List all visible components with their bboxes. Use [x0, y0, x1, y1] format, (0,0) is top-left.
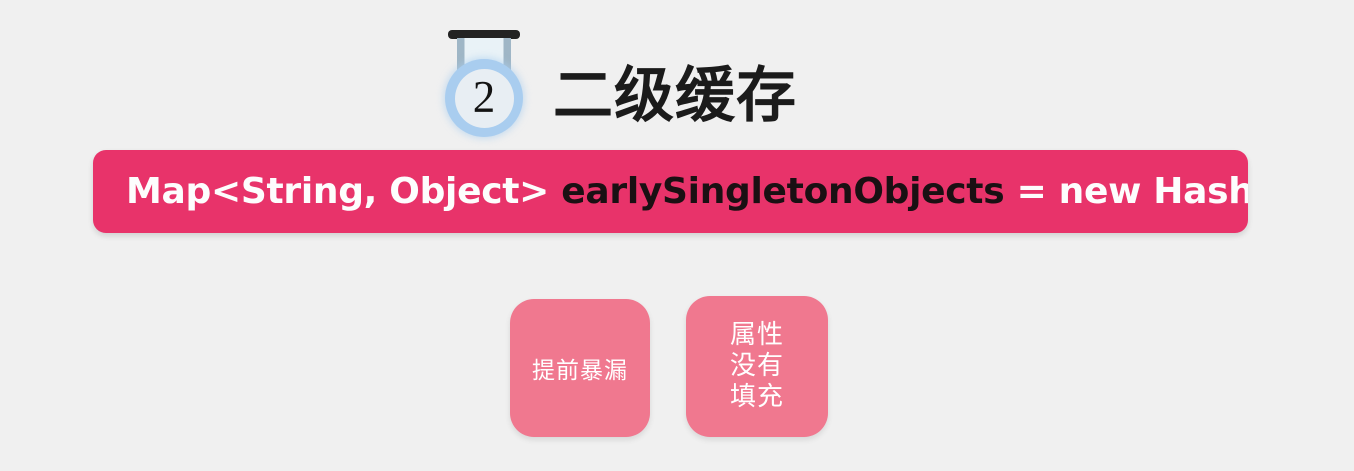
card-early-expose-label: 提前暴漏	[532, 351, 628, 385]
slide-canvas: 2 二级缓存 Map<String, Object> earlySingleto…	[0, 0, 1354, 471]
card-properties-unfilled: 属性 没有 填充	[686, 296, 828, 437]
card-properties-line-2: 没有	[730, 351, 784, 382]
card-properties-line-1: 属性	[730, 320, 784, 351]
card-properties-unfilled-label: 属性 没有 填充	[730, 320, 784, 412]
card-group: 提前暴漏 属性 没有 填充	[0, 0, 1354, 471]
card-properties-line-3: 填充	[730, 382, 784, 413]
card-early-expose: 提前暴漏	[510, 299, 650, 437]
